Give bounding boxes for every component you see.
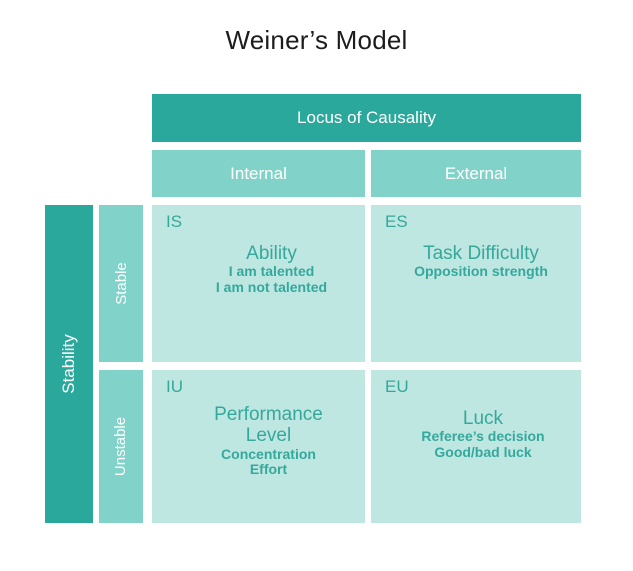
- stability-label: Stability: [59, 334, 79, 394]
- quadrant-code-is: IS: [166, 213, 182, 232]
- internal-label: Internal: [152, 150, 365, 197]
- quadrant-external-unstable: EU Luck Referee’s decision Good/bad luck: [371, 370, 581, 523]
- quadrant-subline-is-0: I am talented: [178, 264, 365, 280]
- weiners-model-matrix: Locus of Causality Internal External Sta…: [0, 0, 633, 571]
- quadrant-subline-is-1: I am not talented: [178, 280, 365, 296]
- quadrant-subline-iu-0: Concentration: [172, 447, 365, 463]
- column-header-external: External: [371, 150, 581, 197]
- locus-of-causality-header: Locus of Causality: [152, 94, 581, 142]
- quadrant-code-eu: EU: [385, 378, 409, 397]
- locus-of-causality-label: Locus of Causality: [152, 94, 581, 142]
- quadrant-title-is: Ability: [178, 243, 365, 264]
- quadrant-body-eu: Luck Referee’s decision Good/bad luck: [371, 408, 581, 461]
- quadrant-subline-eu-0: Referee’s decision: [385, 429, 581, 445]
- quadrant-body-iu: Performance Level Concentration Effort: [152, 404, 365, 478]
- quadrant-internal-unstable: IU Performance Level Concentration Effor…: [152, 370, 365, 523]
- quadrant-title-iu: Performance Level: [172, 404, 365, 447]
- stability-label-wrap: Stability: [45, 205, 93, 523]
- quadrant-subline-es-0: Opposition strength: [381, 264, 581, 280]
- quadrant-body-es: Task Difficulty Opposition strength: [371, 243, 581, 280]
- stable-label-wrap: Stable: [99, 205, 143, 362]
- unstable-label-wrap: Unstable: [99, 370, 143, 523]
- quadrant-title-es: Task Difficulty: [381, 243, 581, 264]
- quadrant-internal-stable: IS Ability I am talented I am not talent…: [152, 205, 365, 362]
- quadrant-title-eu: Luck: [385, 408, 581, 429]
- quadrant-subline-iu-1: Effort: [172, 462, 365, 478]
- row-header-stable: Stable: [99, 205, 143, 362]
- quadrant-body-is: Ability I am talented I am not talented: [152, 243, 365, 296]
- stability-header: Stability: [45, 205, 93, 523]
- unstable-label: Unstable: [113, 417, 130, 476]
- quadrant-subline-eu-1: Good/bad luck: [385, 445, 581, 461]
- quadrant-code-es: ES: [385, 213, 408, 232]
- quadrant-code-iu: IU: [166, 378, 183, 397]
- column-header-internal: Internal: [152, 150, 365, 197]
- stable-label: Stable: [112, 262, 129, 305]
- quadrant-external-stable: ES Task Difficulty Opposition strength: [371, 205, 581, 362]
- row-header-unstable: Unstable: [99, 370, 143, 523]
- external-label: External: [371, 150, 581, 197]
